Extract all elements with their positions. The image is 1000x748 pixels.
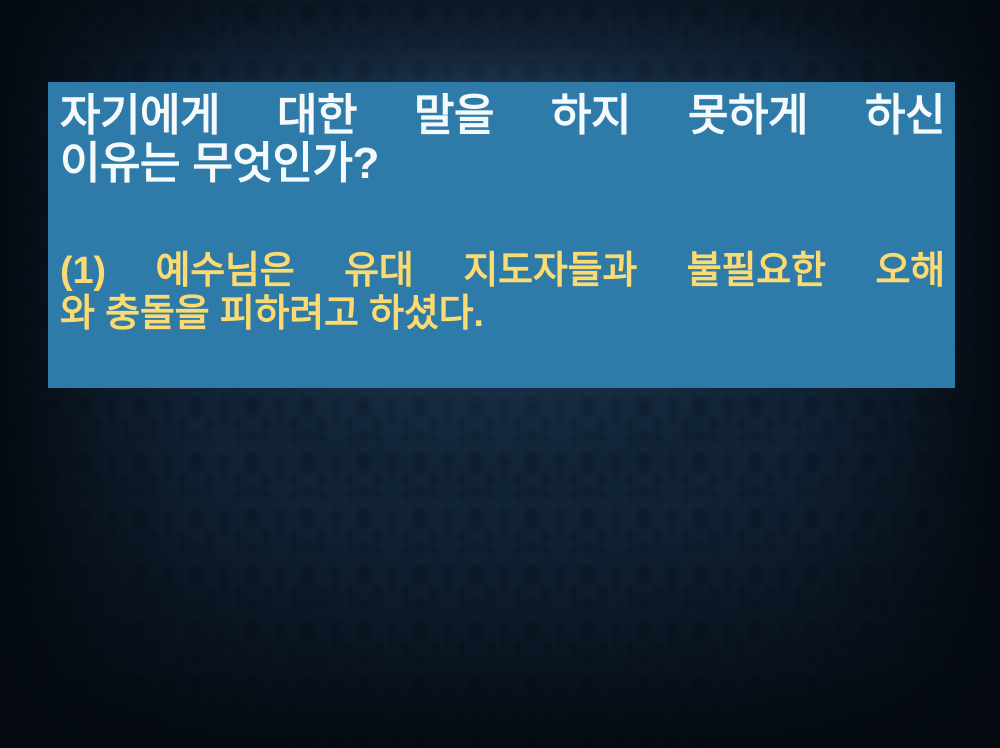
body-line-2: 와 충돌을 피하려고 하셨다. xyxy=(60,293,945,336)
title-body-spacer xyxy=(58,188,947,250)
title-line-2: 이유는 무엇인가? xyxy=(60,140,945,188)
body-line-1: (1) 예수님은 유대 지도자들과 불필요한 오해 xyxy=(60,250,945,293)
title-line-1: 자기에게 대한 말을 하지 못하게 하신 xyxy=(60,92,945,140)
content-text-box: 자기에게 대한 말을 하지 못하게 하신 이유는 무엇인가? (1) 예수님은 … xyxy=(48,82,955,388)
slide-title: 자기에게 대한 말을 하지 못하게 하신 이유는 무엇인가? xyxy=(58,92,947,188)
presentation-slide: 자기에게 대한 말을 하지 못하게 하신 이유는 무엇인가? (1) 예수님은 … xyxy=(0,0,1000,748)
slide-body-text: (1) 예수님은 유대 지도자들과 불필요한 오해 와 충돌을 피하려고 하셨다… xyxy=(58,250,947,337)
